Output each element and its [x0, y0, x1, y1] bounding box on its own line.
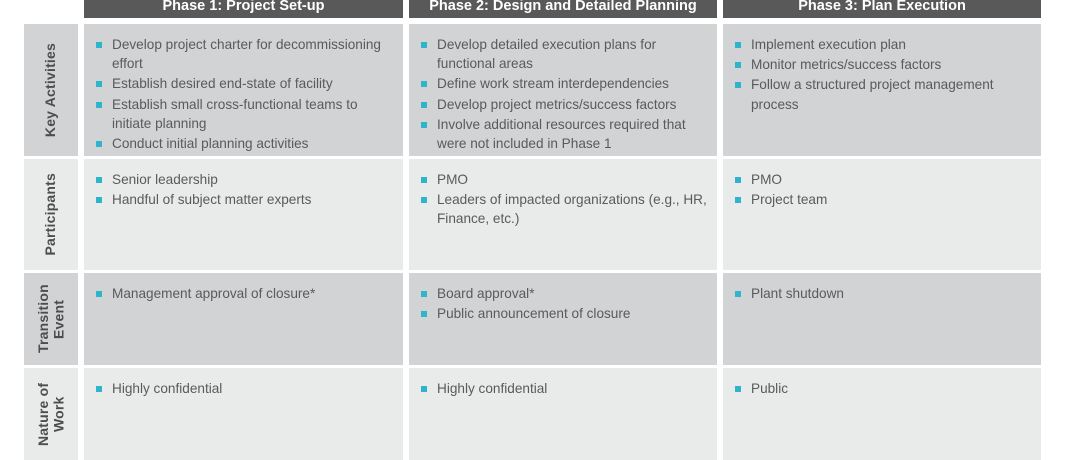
list-item: Develop detailed execution plans for fun…: [419, 35, 707, 73]
square-bullet-icon: [96, 386, 102, 392]
square-bullet-icon: [421, 81, 427, 87]
bullet-list: Public: [733, 379, 1031, 398]
bullet-list: Implement execution plan Monitor metrics…: [733, 35, 1031, 114]
bullet-list: Plant shutdown: [733, 284, 1031, 303]
list-item-text: Project team: [751, 192, 827, 207]
square-bullet-icon: [421, 102, 427, 108]
list-item-text: Develop project metrics/success factors: [437, 97, 676, 112]
square-bullet-icon: [421, 197, 427, 203]
square-bullet-icon: [96, 42, 102, 48]
list-item-text: PMO: [437, 172, 468, 187]
square-bullet-icon: [735, 386, 741, 392]
list-item-text: Conduct initial planning activities: [112, 136, 308, 151]
list-item: Leaders of impacted organizations (e.g.,…: [419, 190, 707, 228]
list-item: Involve additional resources required th…: [419, 115, 707, 153]
list-item-text: Define work stream interdependencies: [437, 76, 669, 91]
cell-participants-phase-2: PMO Leaders of impacted organizations (e…: [409, 159, 717, 270]
bullet-list: Management approval of closure*: [94, 284, 393, 303]
list-item: Establish small cross-functional teams t…: [94, 95, 393, 133]
cell-nature-of-work-phase-3: Public: [723, 368, 1041, 460]
bullet-list: Highly confidential: [419, 379, 707, 398]
list-item-text: Implement execution plan: [751, 37, 906, 52]
list-item-text: Senior leadership: [112, 172, 218, 187]
list-item-text: Develop project charter for decommission…: [112, 37, 381, 71]
column-header-phase-1: Phase 1: Project Set-up: [84, 0, 403, 18]
list-item: PMO: [419, 170, 707, 189]
list-item-text: Follow a structured project management p…: [751, 77, 994, 111]
cell-transition-event-phase-1: Management approval of closure*: [84, 273, 403, 365]
square-bullet-icon: [735, 197, 741, 203]
list-item: Monitor metrics/success factors: [733, 55, 1031, 74]
column-header-row: Phase 1: Project Set-up Phase 2: Design …: [0, 0, 1073, 18]
square-bullet-icon: [421, 386, 427, 392]
list-item-text: Establish small cross-functional teams t…: [112, 97, 358, 131]
bullet-list: Highly confidential: [94, 379, 393, 398]
square-bullet-icon: [421, 291, 427, 297]
list-item-text: Public: [751, 381, 788, 396]
square-bullet-icon: [96, 141, 102, 147]
list-item: Plant shutdown: [733, 284, 1031, 303]
row-label-text: Key Activities: [43, 43, 58, 137]
square-bullet-icon: [421, 42, 427, 48]
square-bullet-icon: [735, 42, 741, 48]
square-bullet-icon: [96, 81, 102, 87]
list-item: Public announcement of closure: [419, 304, 707, 323]
row-label-text: Participants: [43, 173, 58, 256]
cell-key-activities-phase-1: Develop project charter for decommission…: [84, 24, 403, 156]
bullet-list: PMO Project team: [733, 170, 1031, 209]
cell-nature-of-work-phase-2: Highly confidential: [409, 368, 717, 460]
square-bullet-icon: [96, 291, 102, 297]
list-item: Project team: [733, 190, 1031, 209]
list-item: Develop project charter for decommission…: [94, 35, 393, 73]
row-label-key-activities: Key Activities: [24, 24, 78, 156]
square-bullet-icon: [96, 177, 102, 183]
list-item-text: Leaders of impacted organizations (e.g.,…: [437, 192, 707, 226]
list-item-text: Management approval of closure*: [112, 286, 315, 301]
list-item: Develop project metrics/success factors: [419, 95, 707, 114]
list-item: Senior leadership: [94, 170, 393, 189]
cell-transition-event-phase-3: Plant shutdown: [723, 273, 1041, 365]
list-item-text: Public announcement of closure: [437, 306, 630, 321]
cell-key-activities-phase-2: Develop detailed execution plans for fun…: [409, 24, 717, 156]
row-label-transition-event: Transition Event: [24, 273, 78, 365]
square-bullet-icon: [421, 177, 427, 183]
list-item-text: Establish desired end-state of facility: [112, 76, 333, 91]
list-item: Highly confidential: [419, 379, 707, 398]
list-item: Implement execution plan: [733, 35, 1031, 54]
row-label-nature-of-work: Nature of Work: [24, 368, 78, 460]
bullet-list: Develop detailed execution plans for fun…: [419, 35, 707, 153]
bullet-list: Board approval* Public announcement of c…: [419, 284, 707, 323]
list-item: Public: [733, 379, 1031, 398]
list-item: Follow a structured project management p…: [733, 75, 1031, 113]
list-item: PMO: [733, 170, 1031, 189]
list-item-text: Involve additional resources required th…: [437, 117, 686, 151]
cell-nature-of-work-phase-1: Highly confidential: [84, 368, 403, 460]
list-item-text: Develop detailed execution plans for fun…: [437, 37, 656, 71]
list-item-text: PMO: [751, 172, 782, 187]
row-label-participants: Participants: [24, 159, 78, 270]
square-bullet-icon: [421, 122, 427, 128]
square-bullet-icon: [735, 291, 741, 297]
phase-matrix: Phase 1: Project Set-up Phase 2: Design …: [0, 0, 1073, 460]
list-item: Management approval of closure*: [94, 284, 393, 303]
list-item: Conduct initial planning activities: [94, 134, 393, 153]
list-item: Establish desired end-state of facility: [94, 74, 393, 93]
list-item-text: Highly confidential: [112, 381, 222, 396]
square-bullet-icon: [735, 177, 741, 183]
list-item-text: Board approval*: [437, 286, 535, 301]
list-item-text: Handful of subject matter experts: [112, 192, 311, 207]
list-item: Highly confidential: [94, 379, 393, 398]
list-item: Define work stream interdependencies: [419, 74, 707, 93]
list-item-text: Highly confidential: [437, 381, 547, 396]
list-item-text: Plant shutdown: [751, 286, 844, 301]
cell-transition-event-phase-2: Board approval* Public announcement of c…: [409, 273, 717, 365]
bullet-list: PMO Leaders of impacted organizations (e…: [419, 170, 707, 229]
list-item: Board approval*: [419, 284, 707, 303]
bullet-list: Develop project charter for decommission…: [94, 35, 393, 153]
cell-participants-phase-1: Senior leadership Handful of subject mat…: [84, 159, 403, 270]
square-bullet-icon: [735, 62, 741, 68]
row-label-text: Nature of Work: [36, 368, 67, 460]
square-bullet-icon: [421, 311, 427, 317]
list-item-text: Monitor metrics/success factors: [751, 57, 941, 72]
cell-key-activities-phase-3: Implement execution plan Monitor metrics…: [723, 24, 1041, 156]
square-bullet-icon: [96, 102, 102, 108]
square-bullet-icon: [735, 82, 741, 88]
list-item: Handful of subject matter experts: [94, 190, 393, 209]
cell-participants-phase-3: PMO Project team: [723, 159, 1041, 270]
bullet-list: Senior leadership Handful of subject mat…: [94, 170, 393, 209]
column-header-phase-2: Phase 2: Design and Detailed Planning: [409, 0, 717, 18]
row-label-text: Transition Event: [36, 273, 67, 365]
square-bullet-icon: [96, 197, 102, 203]
column-header-phase-3: Phase 3: Plan Execution: [723, 0, 1041, 18]
